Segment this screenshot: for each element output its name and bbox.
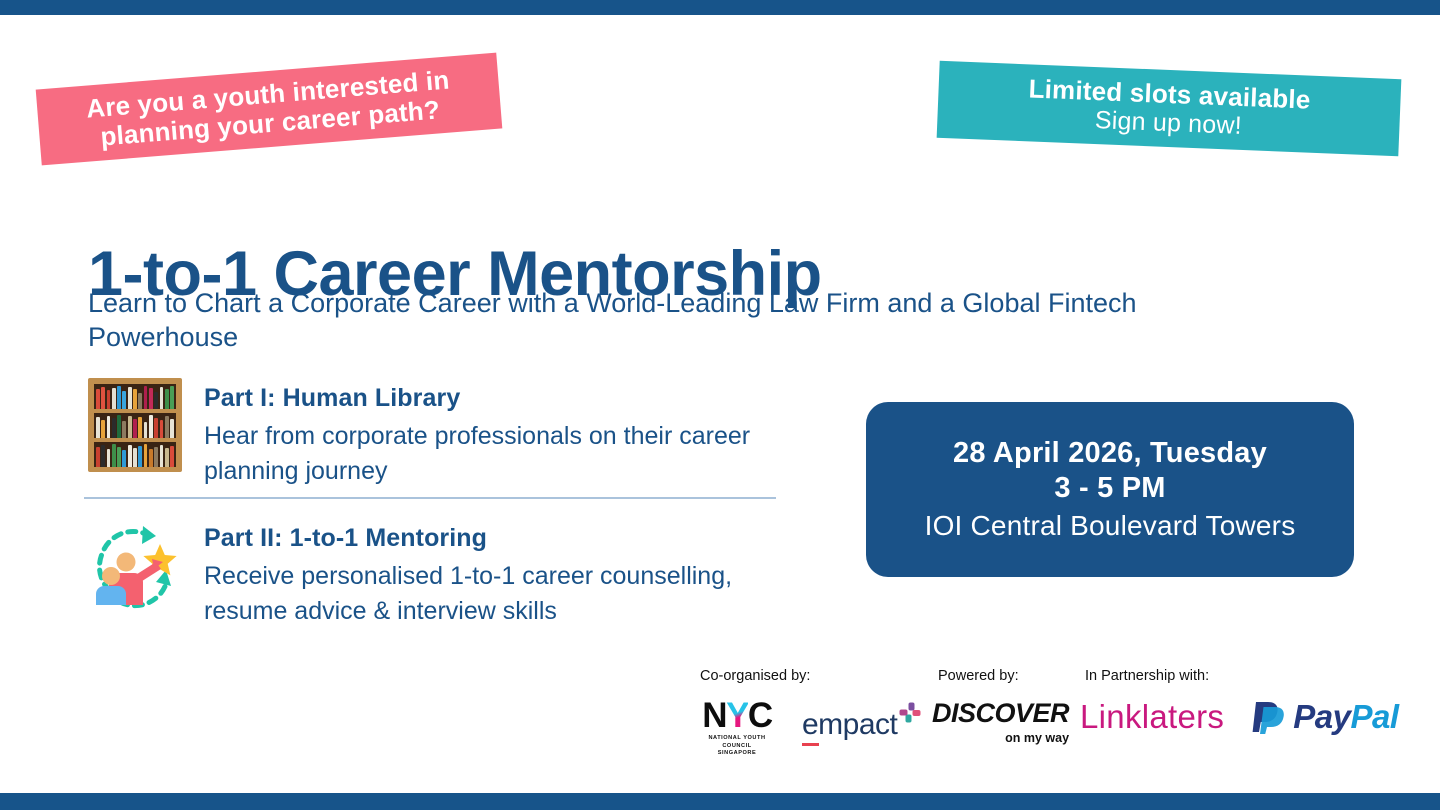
linklaters-logo: Linklaters — [1080, 700, 1224, 733]
empact-logo: empact — [802, 710, 921, 740]
event-venue: IOI Central Boulevard Towers — [925, 510, 1296, 542]
powered-by-logos: DISCOVER on my way — [932, 700, 1069, 745]
empact-underline — [802, 743, 819, 746]
empact-wordmark: empact — [802, 710, 897, 740]
bookshelf-icon — [88, 378, 182, 472]
program-part-2-title: Part II: 1-to-1 Mentoring — [204, 524, 784, 553]
nyc-letter-y: Y — [726, 696, 748, 735]
discover-logo: DISCOVER on my way — [932, 700, 1069, 745]
empact-pinwheel-icon — [899, 702, 921, 724]
paypal-word-pay: Pay — [1293, 698, 1350, 735]
paypal-word-pal: Pal — [1350, 698, 1398, 735]
discover-wordmark: DISCOVER — [932, 700, 1069, 727]
nyc-letter-c: C — [748, 696, 772, 735]
nyc-tagline-line1: NATIONAL YOUTH COUNCIL — [694, 735, 780, 750]
program-part-2-body: Part II: 1-to-1 Mentoring Receive person… — [204, 518, 784, 628]
partnership-logos: Linklaters PayPal — [1080, 698, 1399, 734]
co-organised-logos: NYC NATIONAL YOUTH COUNCIL SINGAPORE emp… — [694, 698, 921, 758]
discover-tagline: on my way — [932, 731, 1069, 745]
poster-canvas: Are you a youth interested in planning y… — [0, 0, 1440, 810]
program-part-1-description: Hear from corporate professionals on the… — [204, 419, 784, 488]
nyc-tagline-line2: SINGAPORE — [694, 750, 780, 758]
question-ribbon: Are you a youth interested in planning y… — [36, 53, 503, 166]
paypal-logo: PayPal — [1252, 698, 1398, 734]
program-part-1-title: Part I: Human Library — [204, 384, 784, 413]
event-details-card: 28 April 2026, Tuesday 3 - 5 PM IOI Cent… — [866, 402, 1354, 577]
event-time: 3 - 5 PM — [1054, 472, 1165, 505]
top-accent-bar — [0, 0, 1440, 15]
mentoring-icon — [88, 518, 182, 612]
program-part-1-body: Part I: Human Library Hear from corporat… — [204, 378, 784, 488]
program-part-2-description: Receive personalised 1-to-1 career couns… — [204, 559, 784, 628]
co-organised-label: Co-organised by: — [700, 668, 810, 684]
signup-ribbon: Limited slots available Sign up now! — [937, 61, 1402, 156]
powered-by-label: Powered by: — [938, 668, 1019, 684]
program-part-2: Part II: 1-to-1 Mentoring Receive person… — [88, 518, 784, 628]
nyc-letter-n: N — [702, 696, 726, 735]
paypal-mark-icon — [1252, 698, 1286, 734]
partnership-group: In Partnership with: — [1085, 668, 1209, 684]
page-subtitle: Learn to Chart a Corporate Career with a… — [88, 286, 1268, 354]
bottom-accent-bar — [0, 793, 1440, 810]
program-part-1: Part I: Human Library Hear from corporat… — [88, 378, 784, 488]
powered-by-group: Powered by: — [938, 668, 1019, 684]
partnership-label: In Partnership with: — [1085, 668, 1209, 684]
co-organised-group: Co-organised by: — [700, 668, 810, 684]
partner-logo-strip: Co-organised by: NYC NATIONAL YOUTH COUN… — [690, 668, 1410, 763]
nyc-logo: NYC NATIONAL YOUTH COUNCIL SINGAPORE — [694, 698, 780, 758]
event-date: 28 April 2026, Tuesday — [953, 437, 1267, 470]
section-divider — [84, 497, 776, 499]
